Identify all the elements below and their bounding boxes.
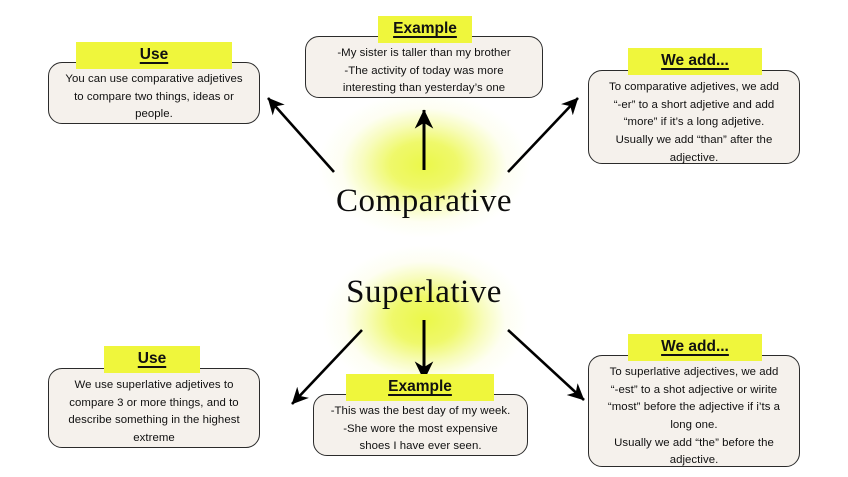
card-line: -The activity of today was more [316, 63, 532, 81]
card-line: shoes I have ever seen. [324, 438, 517, 456]
label-example-comparative: Example [378, 16, 472, 43]
card-line: people. [59, 106, 249, 124]
card-line: “-est” to a shot adjective or wirite [599, 382, 789, 400]
card-line: -She wore the most expensive [324, 421, 517, 439]
card-weadd-comparative: To comparative adjetives, we add “-er” t… [588, 70, 800, 164]
label-weadd-comparative: We add... [628, 48, 762, 75]
card-use-comparative: You can use comparative adjetives to com… [48, 62, 260, 124]
comparative-heading: Comparative [0, 183, 848, 220]
card-line: “-er” to a short adjetive and add [599, 97, 789, 115]
card-line: adjective. [599, 150, 789, 168]
card-example-comparative: -My sister is taller than my brother -Th… [305, 36, 543, 98]
card-line: interesting than yesterday’s one [316, 80, 532, 98]
card-line: describe something in the highest [59, 412, 249, 430]
card-line: “more” if it’s a long adjetive. [599, 114, 789, 132]
card-line: -My sister is taller than my brother [316, 45, 532, 63]
diagram-canvas: Comparative Use You can use comparative … [0, 0, 848, 477]
label-use-superlative: Use [104, 346, 200, 373]
arrow-comparative-to-weadd [508, 98, 578, 172]
card-example-superlative: -This was the best day of my week. -She … [313, 394, 528, 456]
superlative-glow [322, 245, 528, 395]
card-line: long one. [599, 417, 789, 435]
label-weadd-superlative: We add... [628, 334, 762, 361]
card-use-superlative: We use superlative adjetives to compare … [48, 368, 260, 448]
arrow-superlative-to-weadd [508, 330, 584, 400]
card-line: We use superlative adjetives to [59, 377, 249, 395]
card-line: extreme [59, 430, 249, 448]
card-line: to compare two things, ideas or [59, 89, 249, 107]
card-line: You can use comparative adjetives [59, 71, 249, 89]
card-line: -This was the best day of my week. [324, 403, 517, 421]
arrow-comparative-to-use [268, 98, 334, 172]
card-line: Usually we add “than” after the [599, 132, 789, 150]
card-line: To superlative adjectives, we add [599, 364, 789, 382]
card-line: “most” before the adjective if i’ts a [599, 399, 789, 417]
label-example-superlative: Example [346, 374, 494, 401]
superlative-heading: Superlative [0, 274, 848, 311]
card-line: adjective. [599, 452, 789, 470]
label-use-comparative: Use [76, 42, 232, 69]
card-line: To comparative adjetives, we add [599, 79, 789, 97]
card-line: Usually we add “the” before the [599, 435, 789, 453]
card-weadd-superlative: To superlative adjectives, we add “-est”… [588, 355, 800, 467]
card-line: compare 3 or more things, and to [59, 395, 249, 413]
